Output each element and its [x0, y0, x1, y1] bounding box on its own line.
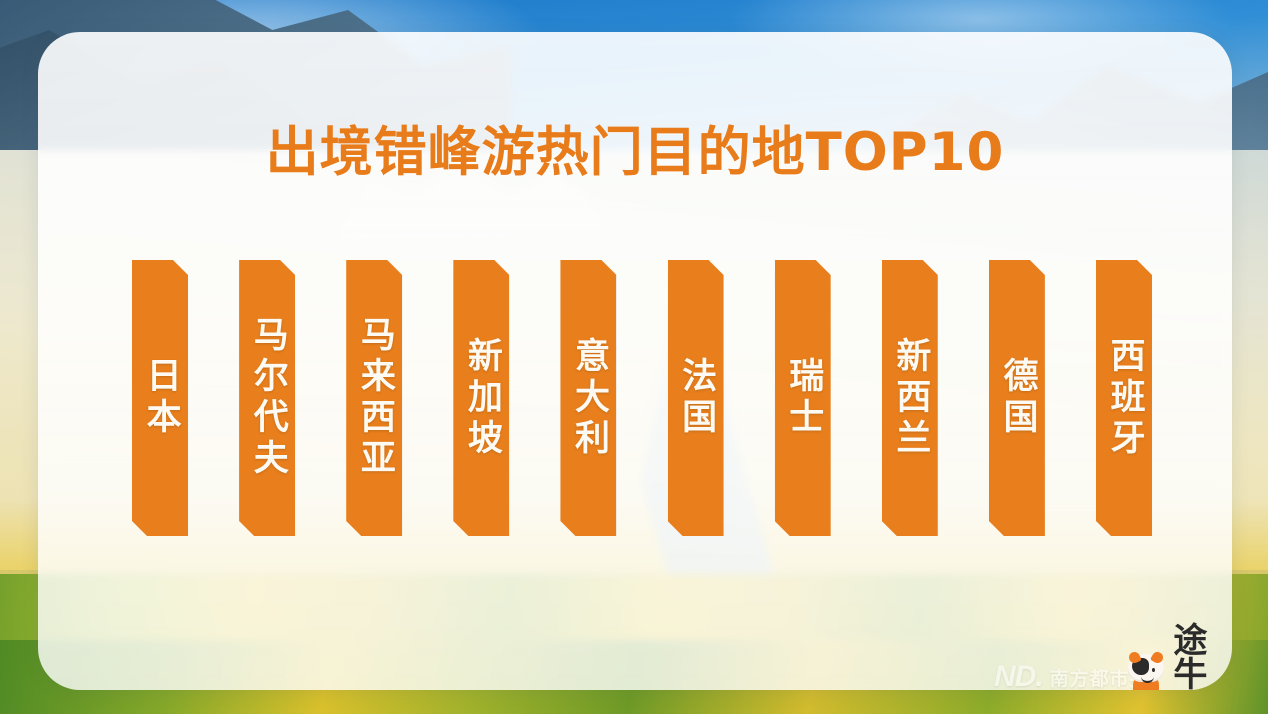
- bar-spain[interactable]: 西班牙: [1096, 260, 1152, 536]
- content-card: 出境错峰游热门目的地TOP10 日本 马尔代夫 马来西亚 新加坡 意大利 法国: [38, 32, 1232, 690]
- cow-eye-right: [1152, 668, 1155, 672]
- bar-label-france: 法国: [676, 357, 715, 439]
- cow-mascot-icon: [1124, 648, 1166, 690]
- bar-france[interactable]: 法国: [668, 260, 724, 536]
- bar-label-spain: 西班牙: [1104, 337, 1143, 460]
- bar-switzerland[interactable]: 瑞士: [775, 260, 831, 536]
- bar-label-germany: 德国: [997, 357, 1036, 439]
- bar-japan[interactable]: 日本: [132, 260, 188, 536]
- cow-horn-right: [1150, 650, 1165, 665]
- cow-head: [1128, 654, 1164, 682]
- bar-singapore[interactable]: 新加坡: [453, 260, 509, 536]
- cow-eye-left: [1138, 668, 1141, 672]
- bar-italy[interactable]: 意大利: [560, 260, 616, 536]
- bar-label-singapore: 新加坡: [462, 337, 501, 460]
- cow-mouth: [1141, 675, 1154, 683]
- bar-label-new-zealand: 新西兰: [890, 337, 929, 460]
- bar-germany[interactable]: 德国: [989, 260, 1045, 536]
- logo-wordmark: 途牛 tuniu.com: [1173, 624, 1232, 690]
- bar-label-maldives: 马尔代夫: [248, 316, 287, 480]
- bar-label-japan: 日本: [140, 357, 179, 439]
- bar-new-zealand[interactable]: 新西兰: [882, 260, 938, 536]
- infographic-stage: 出境错峰游热门目的地TOP10 日本 马尔代夫 马来西亚 新加坡 意大利 法国: [0, 0, 1268, 714]
- logo-brand-cn: 途牛: [1173, 624, 1232, 690]
- tuniu-logo[interactable]: 途牛 tuniu.com: [1124, 624, 1232, 690]
- bar-maldives[interactable]: 马尔代夫: [239, 260, 295, 536]
- bar-label-malaysia: 马来西亚: [355, 316, 394, 480]
- bar-label-italy: 意大利: [569, 337, 608, 460]
- ranking-bar-chart: 日本 马尔代夫 马来西亚 新加坡 意大利 法国 瑞士 新西兰: [132, 260, 1152, 540]
- bar-malaysia[interactable]: 马来西亚: [346, 260, 402, 536]
- nd-mark: ND.: [994, 660, 1043, 690]
- bar-label-switzerland: 瑞士: [783, 357, 822, 439]
- page-title: 出境错峰游热门目的地TOP10: [38, 110, 1232, 186]
